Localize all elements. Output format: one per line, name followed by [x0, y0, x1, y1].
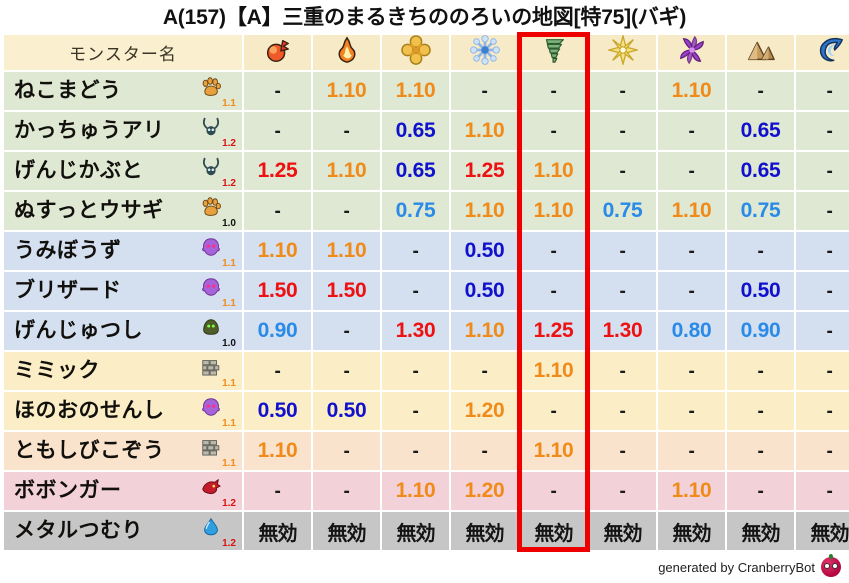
resistance-cell: -: [382, 272, 449, 310]
monster-name: ねこまどう: [14, 72, 122, 110]
resistance-value: 0.80: [672, 319, 712, 342]
resistance-cell: -: [796, 272, 849, 310]
resistance-value: -: [757, 481, 763, 502]
cranberry-icon: [821, 557, 841, 577]
monster-name-cell[interactable]: ともしびこぞう1.1: [4, 432, 242, 470]
resistance-cell: 0.90: [244, 312, 311, 350]
resistance-cell: -: [589, 392, 656, 430]
resistance-value: 0.65: [741, 119, 781, 142]
resistance-cell: -: [313, 192, 380, 230]
resistance-value: 1.10: [465, 199, 505, 222]
monster-name-cell[interactable]: げんじゅつし1.0: [4, 312, 242, 350]
resistance-value: 0.50: [741, 279, 781, 302]
fireball-icon: [263, 52, 293, 69]
resistance-value: 無効: [259, 523, 297, 545]
resistance-value: 1.20: [465, 479, 505, 502]
resistance-value: -: [412, 441, 418, 462]
resistance-table-page: A(157)【A】三重のまるきちののろいの地図[特75](バギ) モンスター名 …: [0, 0, 849, 583]
resistance-value: 0.50: [465, 279, 505, 302]
table-row: ねこまどう1.1-1.101.10---1.10--: [4, 72, 849, 110]
resistance-value: -: [826, 321, 832, 342]
resistance-cell: -: [451, 432, 518, 470]
bug-icon: [198, 114, 224, 140]
monster-version-label: 1.1: [222, 99, 236, 109]
monster-version-label: 1.1: [222, 459, 236, 469]
resistance-value: 0.75: [396, 199, 436, 222]
resistance-cell: -: [313, 312, 380, 350]
monster-name-cell[interactable]: かっちゅうアリ1.2: [4, 112, 242, 150]
resistance-value: -: [826, 81, 832, 102]
paw-icon: [198, 74, 224, 100]
monster-family-badge: 1.2: [196, 474, 236, 508]
resistance-cell: -: [382, 232, 449, 270]
resistance-cell: -: [589, 472, 656, 510]
resistance-cell: 1.25: [520, 312, 587, 350]
monster-family-badge: 1.1: [196, 234, 236, 268]
resistance-value: 無効: [742, 523, 780, 545]
resistance-cell: 1.20: [451, 472, 518, 510]
resistance-value: -: [550, 81, 556, 102]
column-header-dorma[interactable]: [658, 35, 725, 70]
resistance-value: -: [619, 161, 625, 182]
resistance-value: 1.50: [327, 279, 367, 302]
resistance-cell: 無効: [382, 512, 449, 550]
resistance-cell: 1.10: [451, 312, 518, 350]
resistance-value: 1.10: [258, 239, 298, 262]
resistance-cell: 無効: [313, 512, 380, 550]
resistance-value: -: [826, 441, 832, 462]
resistance-value: -: [412, 361, 418, 382]
resistance-value: 1.25: [534, 319, 574, 342]
table-row: ブリザード1.11.501.50-0.50---0.50-: [4, 272, 849, 310]
monster-name-cell[interactable]: ぬすっとウサギ1.0: [4, 192, 242, 230]
resistance-value: 1.10: [534, 199, 574, 222]
resistance-cell: -: [727, 392, 794, 430]
resistance-cell: 無効: [451, 512, 518, 550]
monster-name-cell[interactable]: うみぼうず1.1: [4, 232, 242, 270]
resistance-cell: -: [520, 232, 587, 270]
resistance-cell: -: [244, 472, 311, 510]
monster-name: うみぼうず: [14, 232, 122, 270]
resistance-cell: -: [520, 72, 587, 110]
resistance-cell: 1.10: [244, 432, 311, 470]
resistance-cell: -: [589, 352, 656, 390]
resistance-value: 1.10: [672, 479, 712, 502]
resistance-value: -: [550, 281, 556, 302]
resistance-cell: -: [520, 392, 587, 430]
resistance-cell: -: [796, 432, 849, 470]
resistance-value: -: [688, 361, 694, 382]
resistance-cell: 1.25: [244, 152, 311, 190]
slime-blue-icon: [198, 514, 224, 540]
resistance-value: -: [619, 281, 625, 302]
resistance-value: -: [688, 161, 694, 182]
resistance-cell: -: [451, 352, 518, 390]
resistance-value: -: [274, 81, 280, 102]
table-row: ミミック1.1----1.10----: [4, 352, 849, 390]
monster-name-cell[interactable]: ほのおのせんし1.1: [4, 392, 242, 430]
monster-version-label: 1.1: [222, 419, 236, 429]
monster-family-badge: 1.0: [196, 194, 236, 228]
resistance-cell: -: [727, 472, 794, 510]
resistance-cell: 無効: [796, 512, 849, 550]
table-row: ボボンガー1.2--1.101.20--1.10--: [4, 472, 849, 510]
resistance-value: -: [274, 481, 280, 502]
resistance-value: -: [826, 201, 832, 222]
monster-family-badge: 1.0: [196, 314, 236, 348]
resistance-cell: 1.10: [313, 232, 380, 270]
resistance-value: -: [619, 81, 625, 102]
column-header-jibaria[interactable]: [727, 35, 794, 70]
resistance-cell: 0.75: [382, 192, 449, 230]
resistance-value: 無効: [328, 523, 366, 545]
resistance-cell: 無効: [520, 512, 587, 550]
monster-version-label: 1.0: [222, 339, 236, 349]
resistance-value: 1.10: [534, 359, 574, 382]
resistance-cell: 1.10: [451, 192, 518, 230]
brick-icon: [198, 434, 224, 460]
table-row: ともしびこぞう1.11.10---1.10----: [4, 432, 849, 470]
resistance-table: モンスター名 ねこまどう1.1-1.101.10---1.10--かっちゅうアリ…: [2, 33, 849, 552]
resistance-cell: -: [796, 392, 849, 430]
resistance-value: -: [550, 481, 556, 502]
resistance-cell: 0.90: [727, 312, 794, 350]
monster-family-badge: 1.1: [196, 394, 236, 428]
monster-name-cell[interactable]: ボボンガー1.2: [4, 472, 242, 510]
resistance-value: -: [481, 81, 487, 102]
resistance-value: -: [343, 201, 349, 222]
resistance-value: 無効: [466, 523, 504, 545]
dragon-icon: [198, 474, 224, 500]
resistance-cell: -: [313, 352, 380, 390]
resistance-cell: -: [589, 72, 656, 110]
resistance-value: -: [619, 121, 625, 142]
resistance-value: -: [550, 121, 556, 142]
resistance-cell: -: [796, 152, 849, 190]
resistance-value: 1.20: [465, 399, 505, 422]
resistance-value: -: [757, 361, 763, 382]
column-header-monster-name: モンスター名: [4, 35, 242, 70]
resistance-value: -: [826, 281, 832, 302]
resistance-cell: -: [382, 432, 449, 470]
column-header-dein[interactable]: [589, 35, 656, 70]
resistance-value: -: [619, 401, 625, 422]
resistance-cell: 0.50: [244, 392, 311, 430]
resistance-value: -: [619, 481, 625, 502]
column-header-gira[interactable]: [313, 35, 380, 70]
brick-icon: [198, 354, 224, 380]
resistance-value: 1.30: [396, 319, 436, 342]
resistance-cell: 0.50: [727, 272, 794, 310]
resistance-cell: -: [658, 232, 725, 270]
resistance-cell: -: [589, 232, 656, 270]
resistance-value: -: [343, 121, 349, 142]
resistance-cell: 1.10: [451, 112, 518, 150]
resistance-value: 1.10: [534, 159, 574, 182]
resistance-value: 1.50: [258, 279, 298, 302]
resistance-cell: 0.80: [658, 312, 725, 350]
resistance-value: 無効: [535, 523, 573, 545]
resistance-value: 無効: [604, 523, 642, 545]
resistance-value: 1.10: [327, 79, 367, 102]
resistance-cell: -: [727, 352, 794, 390]
resistance-cell: -: [244, 192, 311, 230]
resistance-value: -: [619, 441, 625, 462]
monster-name: ほのおのせんし: [14, 392, 165, 430]
resistance-value: -: [619, 241, 625, 262]
monster-family-badge: 1.2: [196, 514, 236, 548]
resistance-value: -: [757, 81, 763, 102]
monster-name-cell[interactable]: ミミック1.1: [4, 352, 242, 390]
tornado-icon: [539, 52, 569, 69]
resistance-cell: 1.10: [520, 352, 587, 390]
monster-version-label: 1.2: [222, 179, 236, 189]
resistance-value: -: [757, 401, 763, 422]
resistance-cell: 1.25: [451, 152, 518, 190]
resistance-cell: -: [589, 272, 656, 310]
resistance-value: -: [826, 241, 832, 262]
resistance-value: -: [688, 441, 694, 462]
resistance-value: 無効: [673, 523, 711, 545]
resistance-cell: -: [658, 152, 725, 190]
resistance-value: -: [826, 401, 832, 422]
snowflake-icon: [470, 52, 500, 69]
resistance-value: 0.50: [258, 399, 298, 422]
resistance-cell: 1.10: [520, 192, 587, 230]
monster-family-badge: 1.1: [196, 274, 236, 308]
monster-family-badge: 1.1: [196, 434, 236, 468]
resistance-value: 1.10: [327, 239, 367, 262]
resistance-cell: -: [244, 112, 311, 150]
monster-name: ボボンガー: [14, 472, 122, 510]
table-row: ぬすっとウサギ1.0--0.751.101.100.751.100.75-: [4, 192, 849, 230]
resistance-value: -: [826, 121, 832, 142]
resistance-cell: 1.10: [658, 192, 725, 230]
resistance-cell: -: [244, 352, 311, 390]
monster-version-label: 1.2: [222, 539, 236, 549]
resistance-value: -: [343, 361, 349, 382]
resistance-value: 1.10: [396, 79, 436, 102]
ghost-icon: [198, 234, 224, 260]
resistance-value: 1.10: [258, 439, 298, 462]
wave-icon: [815, 52, 845, 69]
resistance-value: 1.10: [672, 79, 712, 102]
resistance-cell: -: [658, 352, 725, 390]
monster-name: かっちゅうアリ: [14, 112, 165, 150]
resistance-value: 1.30: [603, 319, 643, 342]
resistance-cell: 1.10: [313, 72, 380, 110]
resistance-value: 0.50: [465, 239, 505, 262]
resistance-cell: -: [520, 272, 587, 310]
resistance-value: 無効: [397, 523, 435, 545]
resistance-cell: -: [313, 112, 380, 150]
resistance-cell: 1.30: [382, 312, 449, 350]
resistance-value: 1.25: [258, 159, 298, 182]
footer-text: generated by CranberryBot: [658, 560, 815, 575]
monster-version-label: 1.1: [222, 379, 236, 389]
resistance-value: 1.10: [465, 319, 505, 342]
monster-name: ぬすっとウサギ: [14, 192, 164, 230]
resistance-cell: 無効: [244, 512, 311, 550]
resistance-cell: 0.65: [727, 112, 794, 150]
resistance-value: -: [343, 441, 349, 462]
monster-name-cell[interactable]: げんじかぶと1.2: [4, 152, 242, 190]
resistance-cell: -: [589, 432, 656, 470]
resistance-cell: -: [451, 72, 518, 110]
resistance-value: -: [274, 121, 280, 142]
resistance-cell: 0.65: [382, 112, 449, 150]
resistance-value: -: [688, 401, 694, 422]
monster-name: メタルつむり: [14, 512, 143, 550]
resistance-value: 0.50: [327, 399, 367, 422]
column-header-merra[interactable]: [244, 35, 311, 70]
resistance-value: -: [550, 241, 556, 262]
monster-family-badge: 1.1: [196, 74, 236, 108]
monster-name-cell[interactable]: ブリザード1.1: [4, 272, 242, 310]
monster-version-label: 1.1: [222, 299, 236, 309]
table-body: ねこまどう1.1-1.101.10---1.10--かっちゅうアリ1.2--0.…: [4, 72, 849, 550]
starburst-icon: [608, 52, 638, 69]
page-title: A(157)【A】三重のまるきちののろいの地図[特75](バギ): [0, 0, 849, 32]
resistance-cell: 無効: [658, 512, 725, 550]
monster-version-label: 1.2: [222, 139, 236, 149]
monster-name: げんじゅつし: [14, 312, 143, 350]
resistance-cell: 1.10: [520, 152, 587, 190]
monster-name: ブリザード: [14, 272, 122, 310]
resistance-cell: -: [796, 232, 849, 270]
monster-family-badge: 1.2: [196, 114, 236, 148]
monster-name-cell[interactable]: メタルつむり1.2: [4, 512, 242, 550]
resistance-cell: 0.65: [382, 152, 449, 190]
monster-version-label: 1.2: [222, 499, 236, 509]
resistance-value: -: [481, 361, 487, 382]
mountain-icon: [746, 52, 776, 69]
resistance-value: 1.10: [465, 119, 505, 142]
ghost-icon: [198, 394, 224, 420]
resistance-value: 1.10: [534, 439, 574, 462]
resistance-value: 0.75: [741, 199, 781, 222]
monster-name-cell[interactable]: ねこまどう1.1: [4, 72, 242, 110]
table-row: うみぼうず1.11.101.10-0.50-----: [4, 232, 849, 270]
table-row: メタルつむり1.2無効無効無効無効無効無効無効無効無効: [4, 512, 849, 550]
resistance-value: 0.75: [603, 199, 643, 222]
resistance-value: -: [550, 401, 556, 422]
table-row: げんじかぶと1.21.251.100.651.251.10--0.65-: [4, 152, 849, 190]
resistance-cell: -: [382, 392, 449, 430]
resistance-value: -: [274, 201, 280, 222]
resistance-value: -: [688, 281, 694, 302]
resistance-cell: -: [727, 72, 794, 110]
resistance-cell: 1.10: [658, 72, 725, 110]
resistance-cell: -: [658, 392, 725, 430]
resistance-cell: 1.50: [244, 272, 311, 310]
resistance-value: -: [343, 481, 349, 502]
resistance-value: -: [343, 321, 349, 342]
resistance-cell: 0.65: [727, 152, 794, 190]
resistance-value: 0.65: [741, 159, 781, 182]
resistance-value: 1.10: [672, 199, 712, 222]
table-row: げんじゅつし1.00.90-1.301.101.251.300.800.90-: [4, 312, 849, 350]
monster-name: げんじかぶと: [14, 152, 143, 190]
resistance-value: -: [826, 361, 832, 382]
resistance-cell: -: [589, 152, 656, 190]
resistance-cell: 0.75: [727, 192, 794, 230]
resistance-cell: -: [520, 112, 587, 150]
resistance-value: 0.90: [258, 319, 298, 342]
resistance-cell: 1.10: [313, 152, 380, 190]
monster-version-label: 1.0: [222, 219, 236, 229]
resistance-cell: -: [589, 112, 656, 150]
monster-family-badge: 1.2: [196, 154, 236, 188]
resistance-cell: 1.10: [244, 232, 311, 270]
column-header-mera2[interactable]: [796, 35, 849, 70]
resistance-cell: 無効: [589, 512, 656, 550]
resistance-value: 1.25: [465, 159, 505, 182]
monster-name: ともしびこぞう: [14, 432, 165, 470]
resistance-cell: 1.30: [589, 312, 656, 350]
resistance-cell: -: [658, 112, 725, 150]
column-header-bagi[interactable]: [520, 35, 587, 70]
resistance-cell: -: [796, 112, 849, 150]
resistance-value: -: [826, 481, 832, 502]
resistance-cell: 0.75: [589, 192, 656, 230]
resistance-cell: -: [658, 272, 725, 310]
monster-family-badge: 1.1: [196, 354, 236, 388]
resistance-value: 0.65: [396, 119, 436, 142]
resistance-value: -: [274, 361, 280, 382]
table-row: かっちゅうアリ1.2--0.651.10---0.65-: [4, 112, 849, 150]
explosion-icon: [401, 52, 431, 69]
resistance-value: 0.90: [741, 319, 781, 342]
resistance-value: -: [757, 441, 763, 462]
column-header-io[interactable]: [382, 35, 449, 70]
resistance-cell: 1.20: [451, 392, 518, 430]
resistance-cell: -: [727, 232, 794, 270]
resistance-cell: -: [796, 312, 849, 350]
bug-icon: [198, 154, 224, 180]
resistance-cell: -: [313, 432, 380, 470]
resistance-cell: 1.10: [658, 472, 725, 510]
monster-name: ミミック: [14, 352, 100, 390]
resistance-cell: 0.50: [451, 232, 518, 270]
dark-flower-icon: [677, 52, 707, 69]
resistance-cell: -: [658, 432, 725, 470]
ghost-icon: [198, 274, 224, 300]
resistance-cell: 1.10: [382, 472, 449, 510]
resistance-cell: 1.50: [313, 272, 380, 310]
resistance-cell: -: [796, 192, 849, 230]
resistance-cell: 0.50: [451, 272, 518, 310]
footer-credit: generated by CranberryBot: [658, 557, 841, 577]
resistance-cell: -: [796, 472, 849, 510]
monster-version-label: 1.1: [222, 259, 236, 269]
resistance-value: -: [826, 161, 832, 182]
resistance-cell: -: [796, 352, 849, 390]
resistance-value: -: [757, 241, 763, 262]
resistance-cell: -: [796, 72, 849, 110]
flame-icon: [332, 52, 362, 69]
resistance-value: -: [412, 241, 418, 262]
resistance-cell: -: [382, 352, 449, 390]
resistance-value: -: [412, 401, 418, 422]
column-header-hyado[interactable]: [451, 35, 518, 70]
resistance-value: -: [619, 361, 625, 382]
resistance-cell: -: [520, 472, 587, 510]
resistance-cell: 1.10: [520, 432, 587, 470]
resistance-cell: 1.10: [382, 72, 449, 110]
resistance-value: -: [688, 241, 694, 262]
table-row: ほのおのせんし1.10.500.50-1.20-----: [4, 392, 849, 430]
